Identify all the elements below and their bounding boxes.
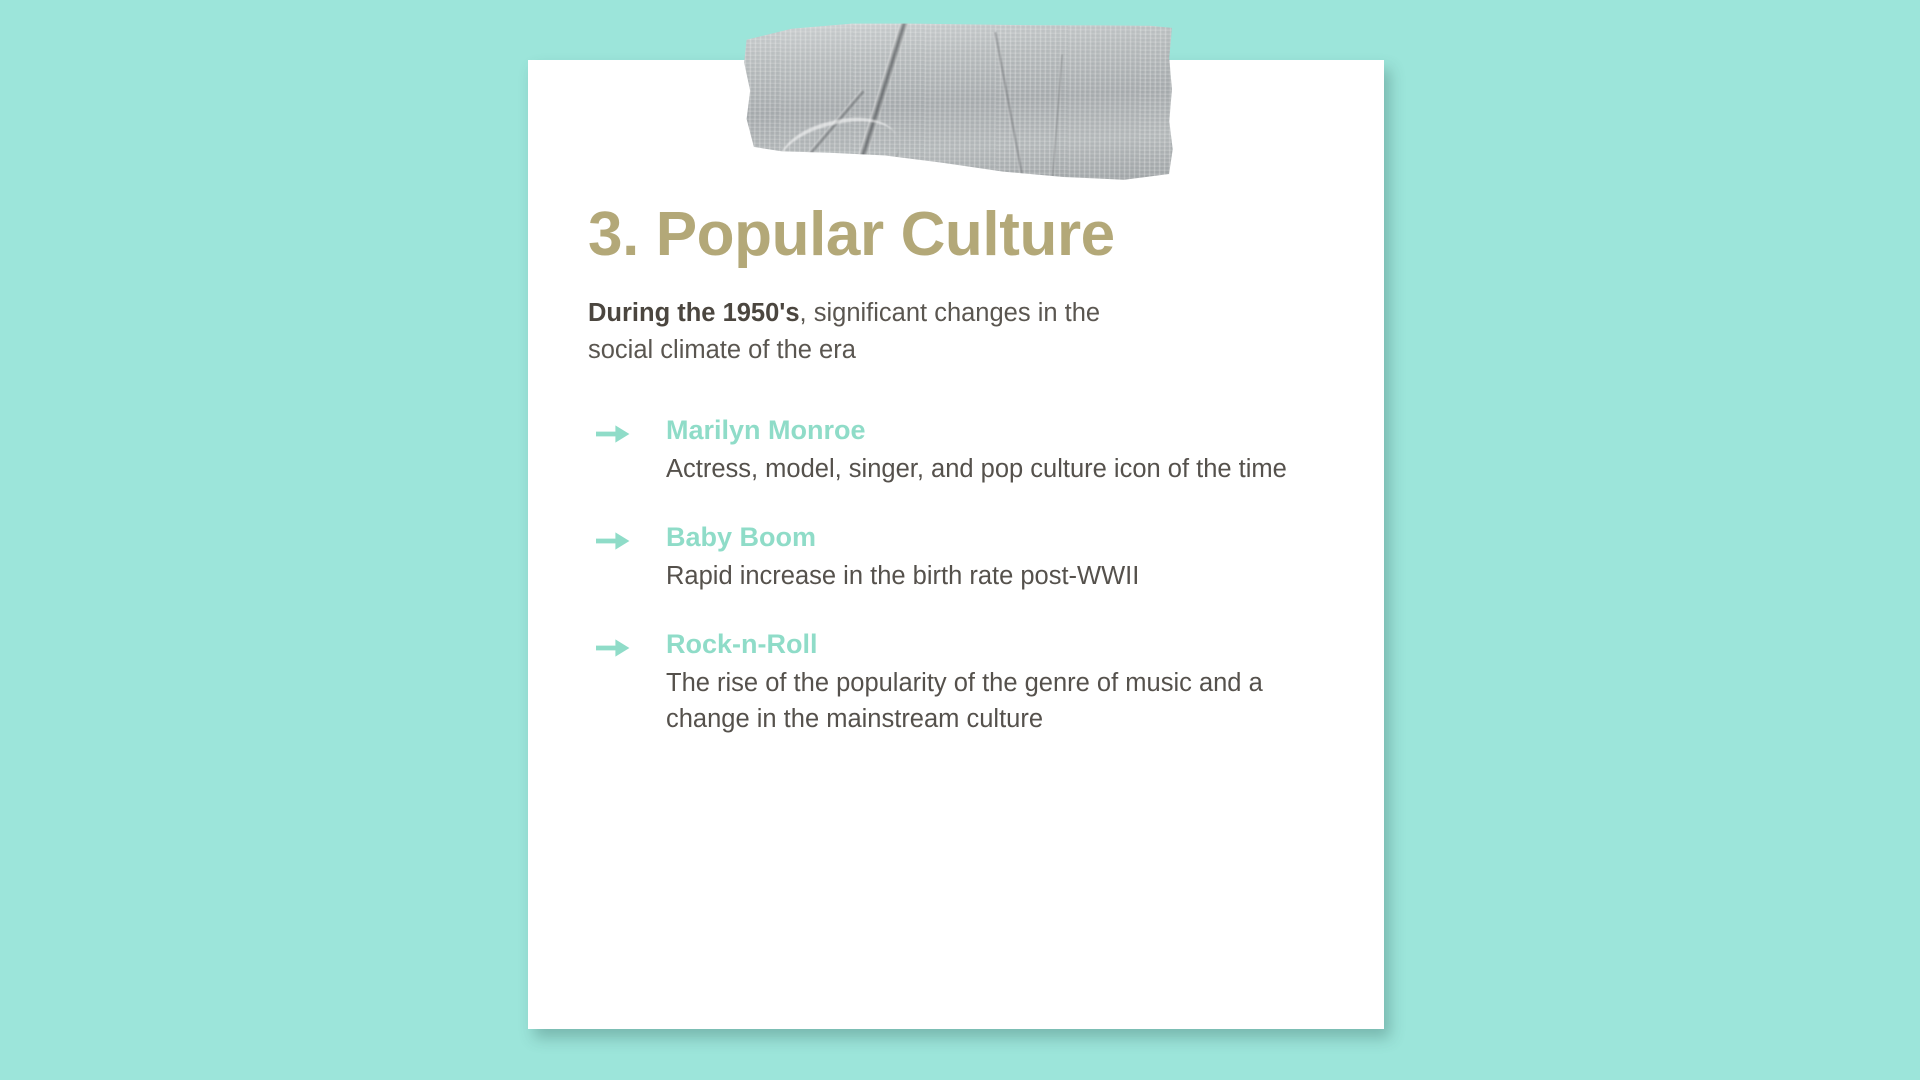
arrow-right-icon <box>596 530 630 552</box>
tape-crease <box>993 32 1034 200</box>
list-item: Rock-n-Roll The rise of the popularity o… <box>588 628 1348 737</box>
list-item-description: Actress, model, singer, and pop culture … <box>666 451 1291 487</box>
card-content: 3. Popular Culture During the 1950's, si… <box>588 202 1348 737</box>
page-title: 3. Popular Culture <box>588 202 1348 269</box>
list-item-title: Marilyn Monroe <box>666 414 1348 448</box>
duct-tape-decoration <box>740 12 1177 200</box>
duct-tape-strip <box>740 12 1177 200</box>
list-item-title: Baby Boom <box>666 521 1348 555</box>
intro-bold-lead: During the 1950's <box>588 299 800 327</box>
list-item: Baby Boom Rapid increase in the birth ra… <box>588 521 1348 594</box>
content-card: 3. Popular Culture During the 1950's, si… <box>528 60 1384 1029</box>
arrow-right-icon <box>596 637 630 659</box>
list-item-title: Rock-n-Roll <box>666 628 1348 662</box>
intro-paragraph: During the 1950's, significant changes i… <box>588 295 1148 368</box>
arrow-right-icon <box>596 423 630 445</box>
bullet-list: Marilyn Monroe Actress, model, singer, a… <box>588 414 1348 737</box>
tape-crease <box>1048 54 1064 200</box>
tape-fold <box>772 107 905 200</box>
list-item-description: The rise of the popularity of the genre … <box>666 665 1291 737</box>
list-item: Marilyn Monroe Actress, model, singer, a… <box>588 414 1348 487</box>
slide-canvas: 3. Popular Culture During the 1950's, si… <box>0 0 1920 1080</box>
list-item-description: Rapid increase in the birth rate post-WW… <box>666 558 1291 594</box>
tape-shading <box>740 12 1177 200</box>
